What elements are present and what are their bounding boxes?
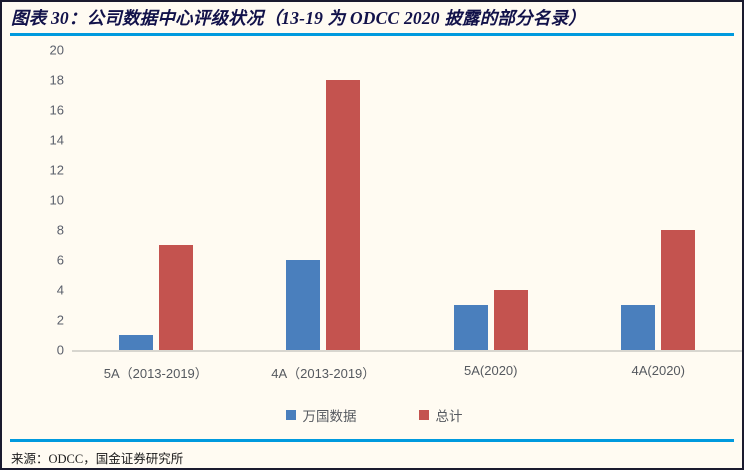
y-axis-tick-label: 12 [50,163,64,178]
bar-blue[interactable] [454,305,488,350]
x-axis-tick-label: 5A（2013-2019） [104,363,208,382]
bar-blue[interactable] [286,260,320,350]
legend-swatch-icon [286,410,296,420]
bar-group [240,50,408,350]
y-axis-tick-label: 16 [50,103,64,118]
plot-area: 20181614121086420 [2,38,744,363]
x-axis-tick-label: 4A（2013-2019） [271,363,375,382]
bar-blue[interactable] [621,305,655,350]
y-axis-tick-label: 8 [57,223,64,238]
x-axis-tick-label: 5A(2020) [464,363,517,378]
chart-title-row: 图表 30：公司数据中心评级状况（13-19 为 ODCC 2020 披露的部分… [2,2,742,33]
bar-red[interactable] [494,290,528,350]
y-axis-tick-label: 18 [50,73,64,88]
y-axis-tick-label: 6 [57,253,64,268]
y-axis-tick-label: 14 [50,133,64,148]
bar-red[interactable] [326,80,360,350]
bar-red[interactable] [661,230,695,350]
legend-swatch-icon [419,410,429,420]
y-axis-tick-label: 4 [57,283,64,298]
legend-label: 万国数据 [303,405,357,425]
y-axis-tick-label: 10 [50,193,64,208]
source-note: 来源：ODCC，国金证券研究所 [11,448,183,467]
page-title: 图表 30：公司数据中心评级状况（13-19 为 ODCC 2020 披露的部分… [11,5,586,30]
bar-group [407,50,575,350]
legend-item-blue[interactable]: 万国数据 [286,405,357,425]
source-divider [10,439,734,442]
title-divider [10,33,734,36]
x-axis-labels: 5A（2013-2019）4A（2013-2019）5A(2020)4A(202… [72,363,738,385]
bar-group [575,50,743,350]
bar-blue[interactable] [119,335,153,350]
legend-item-red[interactable]: 总计 [419,405,463,425]
y-axis-tick-label: 0 [57,343,64,358]
bar-group [72,50,240,350]
y-axis-tick-label: 2 [57,313,64,328]
exhibit-chart-panel: 图表 30：公司数据中心评级状况（13-19 为 ODCC 2020 披露的部分… [0,0,744,470]
chart-legend: 万国数据总计 [2,405,744,425]
y-axis-tick-label: 20 [50,43,64,58]
y-axis-labels: 20181614121086420 [2,38,72,363]
x-axis-tick-label: 4A(2020) [632,363,685,378]
source-row: 来源：ODCC，国金证券研究所 [11,446,183,468]
x-axis-line [72,350,742,352]
bars-canvas [72,38,742,363]
bar-red[interactable] [159,245,193,350]
legend-label: 总计 [436,405,463,425]
